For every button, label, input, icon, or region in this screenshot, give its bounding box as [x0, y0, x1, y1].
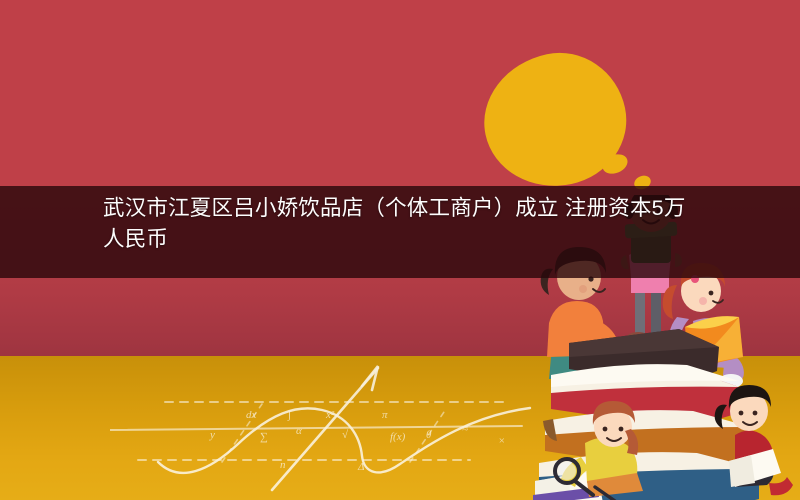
banner-title: 武汉市江夏区吕小娇饮品店（个体工商户）成立 注册资本5万人民币 [103, 193, 703, 255]
news-banner-image: dx∫ x²π y∑ α√ f(x)θ ≈× nΔ [0, 0, 800, 500]
